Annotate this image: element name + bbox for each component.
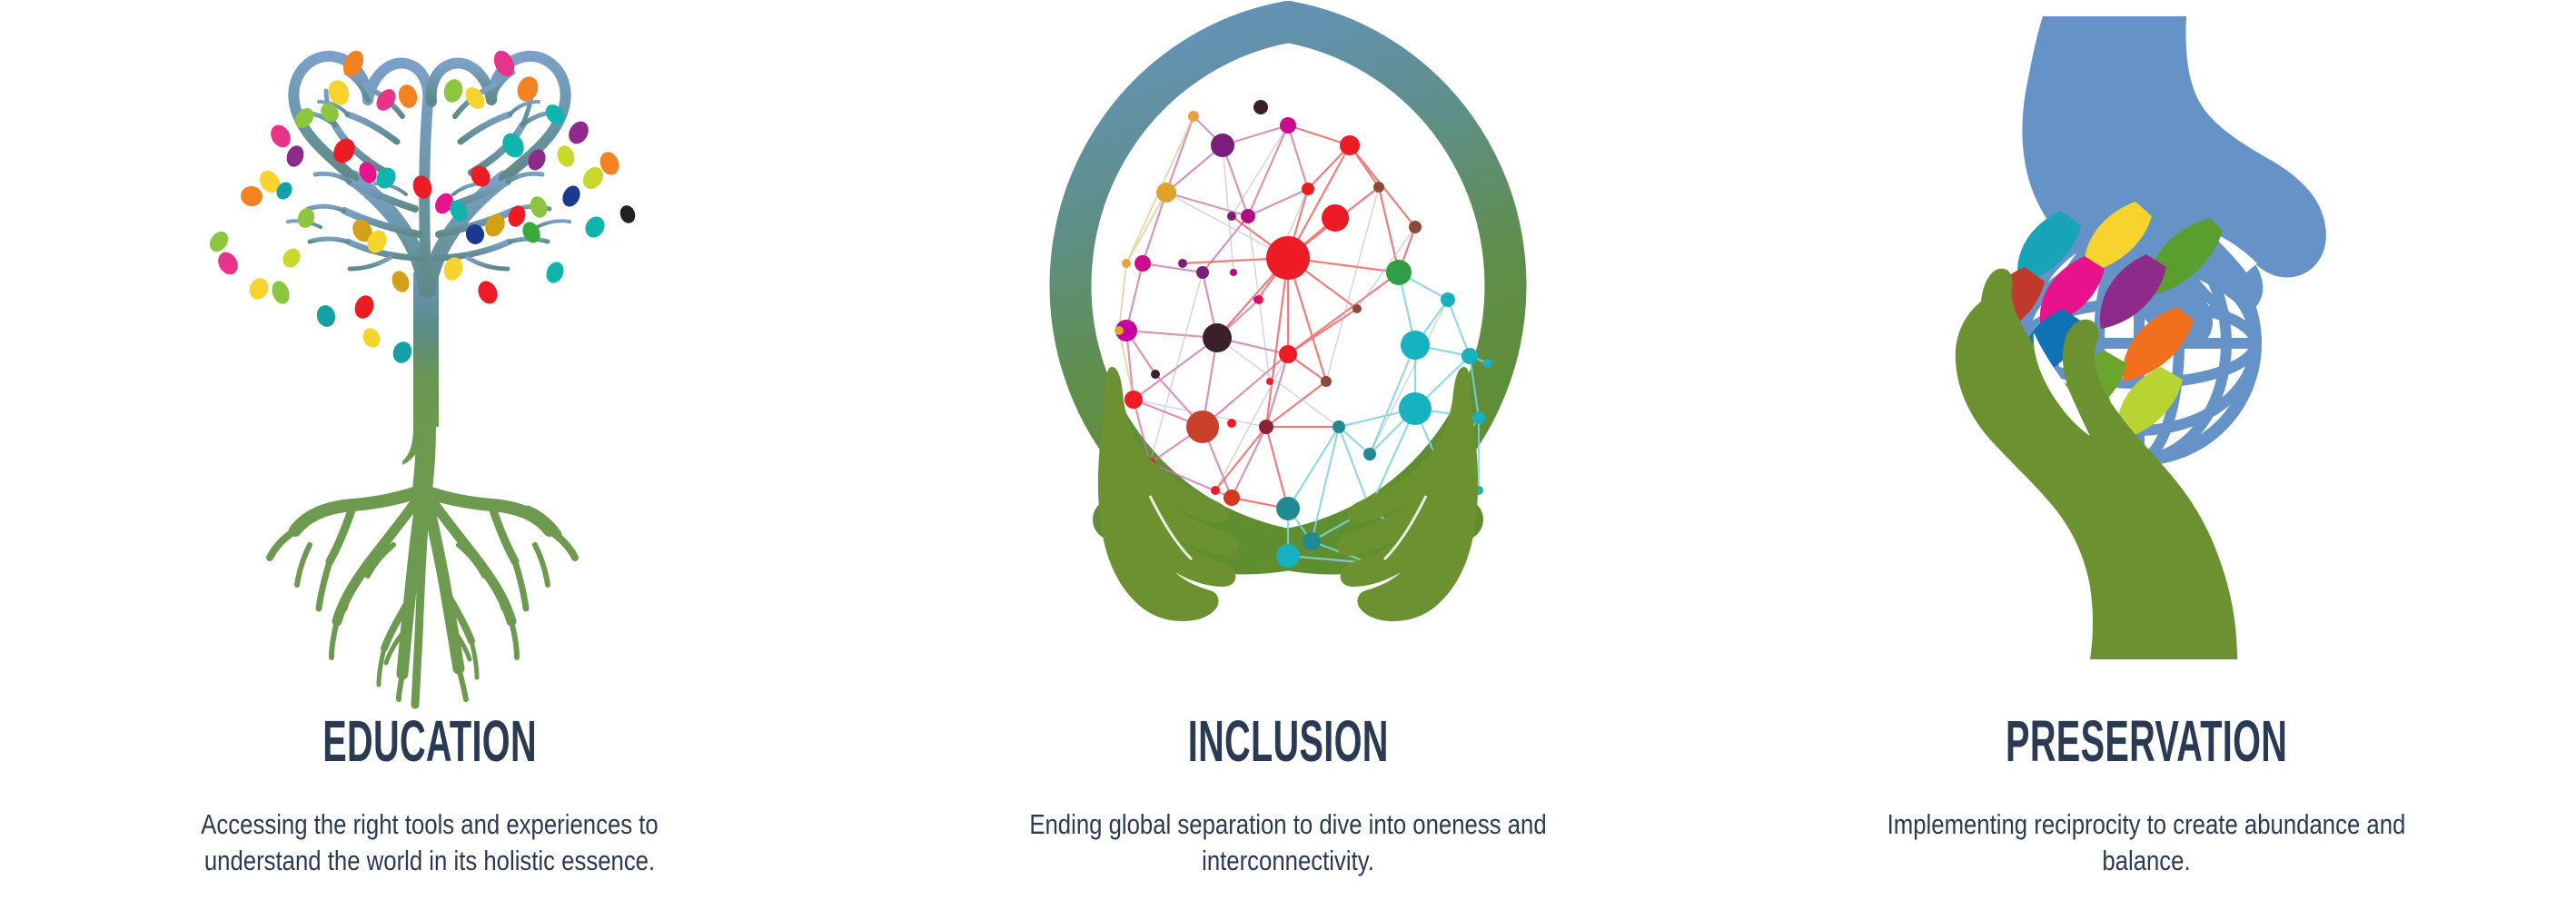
pillar-title: PRESERVATION: [2006, 712, 2287, 770]
heart-tree-icon: [175, 0, 684, 717]
pillar-title: INCLUSION: [1187, 712, 1388, 770]
hands-globe-leaves-illustration: [1718, 0, 2576, 717]
tree-root-group: [270, 427, 575, 705]
pillar-preservation: PRESERVATION Implementing reciprocity to…: [1718, 0, 2576, 910]
pillar-description: Accessing the right tools and experience…: [158, 776, 701, 878]
hands-network-illustration: [858, 0, 1717, 717]
pillar-description: Implementing reciprocity to create abund…: [1876, 776, 2419, 878]
heart-tree-illustration: [0, 0, 858, 717]
values-three-column-graphic: EDUCATION Accessing the right tools and …: [0, 0, 2576, 910]
hands-cradling-globe-leaves-icon: [1847, 0, 2446, 717]
left-hand: [1098, 367, 1239, 621]
pillar-inclusion: INCLUSION Ending global separation to di…: [858, 0, 1717, 910]
pillar-education: EDUCATION Accessing the right tools and …: [0, 0, 858, 910]
hands-network-globe-icon: [988, 0, 1588, 717]
pillar-description: Ending global separation to dive into on…: [1016, 776, 1560, 878]
pillar-title: EDUCATION: [322, 712, 537, 770]
